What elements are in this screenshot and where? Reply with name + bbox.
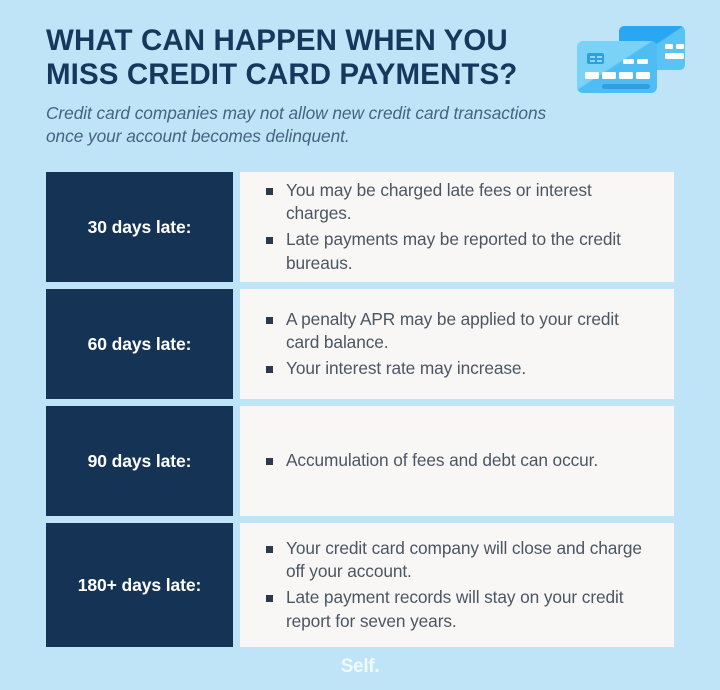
timeline-rows: 30 days late: You may be charged late fe… bbox=[46, 172, 674, 647]
list-item: A penalty APR may be applied to your cre… bbox=[264, 308, 654, 355]
table-row: 30 days late: You may be charged late fe… bbox=[46, 172, 674, 282]
bullet-list: A penalty APR may be applied to your cre… bbox=[264, 308, 654, 381]
row-label-180-days: 180+ days late: bbox=[46, 523, 233, 647]
bullet-list: Your credit card company will close and … bbox=[264, 537, 654, 633]
credit-cards-icon bbox=[571, 20, 691, 100]
page-subtitle: Credit card companies may not allow new … bbox=[46, 102, 576, 147]
list-item: Late payments may be reported to the cre… bbox=[264, 228, 654, 275]
row-body-60-days: A penalty APR may be applied to your cre… bbox=[240, 289, 674, 399]
table-row: 90 days late: Accumulation of fees and d… bbox=[46, 406, 674, 516]
list-item: Late payment records will stay on your c… bbox=[264, 586, 654, 633]
brand-logo: Self. bbox=[341, 656, 380, 678]
row-label-60-days: 60 days late: bbox=[46, 289, 233, 399]
list-item: Your interest rate may increase. bbox=[264, 357, 654, 381]
page-title: WHAT CAN HAPPEN WHEN YOU MISS CREDIT CAR… bbox=[46, 24, 546, 91]
list-item: Your credit card company will close and … bbox=[264, 537, 654, 584]
list-item: Accumulation of fees and debt can occur. bbox=[264, 449, 654, 473]
row-body-30-days: You may be charged late fees or interest… bbox=[240, 172, 674, 282]
table-row: 180+ days late: Your credit card company… bbox=[46, 523, 674, 647]
infographic-root: WHAT CAN HAPPEN WHEN YOU MISS CREDIT CAR… bbox=[0, 0, 720, 690]
bullet-list: You may be charged late fees or interest… bbox=[264, 179, 654, 275]
row-body-180-days: Your credit card company will close and … bbox=[240, 523, 674, 647]
list-item: You may be charged late fees or interest… bbox=[264, 179, 654, 226]
row-body-90-days: Accumulation of fees and debt can occur. bbox=[240, 406, 674, 516]
table-row: 60 days late: A penalty APR may be appli… bbox=[46, 289, 674, 399]
row-label-30-days: 30 days late: bbox=[46, 172, 233, 282]
row-label-90-days: 90 days late: bbox=[46, 406, 233, 516]
bullet-list: Accumulation of fees and debt can occur. bbox=[264, 449, 654, 473]
footer: Self. bbox=[0, 656, 720, 678]
